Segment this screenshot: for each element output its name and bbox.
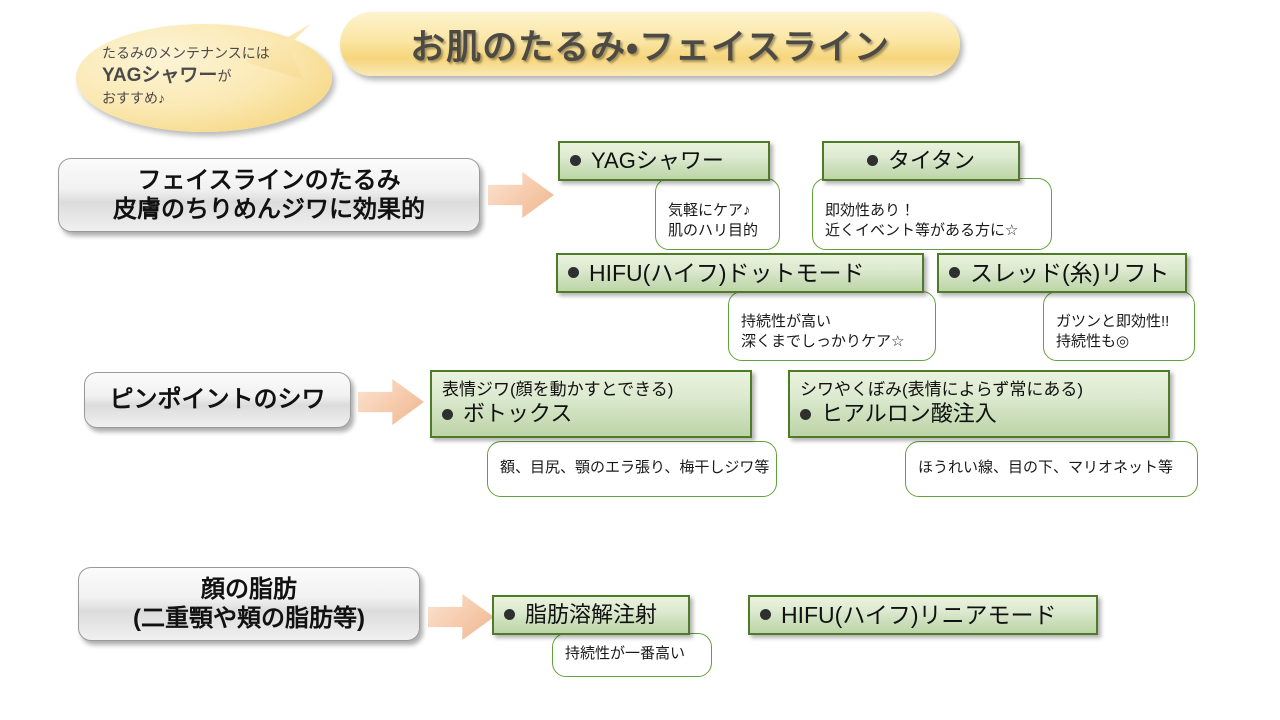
bubble-line-2-strong: YAGシャワー xyxy=(102,65,217,86)
treatment-name: スレッド(糸)リフト xyxy=(970,259,1169,287)
treatment-subtitle: 表情ジワ(顔を動かすとできる) xyxy=(442,380,740,400)
callout-botox: 額、目尻、顎のエラ張り、梅干しジワ等 xyxy=(487,441,777,497)
callout-line: ほうれい線、目の下、マリオネット等 xyxy=(918,458,1187,478)
treatment-name: ボトックス xyxy=(463,401,572,428)
callout-titan: 即効性あり！ 近くイベント等がある方に☆ xyxy=(812,178,1052,250)
treatment-name: 脂肪溶解注射 xyxy=(525,602,657,629)
arrow-icon-section-2 xyxy=(358,379,424,425)
treatment-box-thread-lift[interactable]: スレッド(糸)リフト xyxy=(937,253,1187,293)
callout-line: 額、目尻、顎のエラ張り、梅干しジワ等 xyxy=(500,458,766,478)
bullet-icon xyxy=(570,155,581,166)
bullet-icon xyxy=(949,267,960,278)
bullet-icon xyxy=(800,409,811,420)
callout-yag: 気軽にケア♪ 肌のハリ目的 xyxy=(655,178,780,250)
arrow-icon-section-1 xyxy=(488,172,554,218)
treatment-subtitle: シワやくぼみ(表情によらず常にある) xyxy=(800,380,1158,400)
callout-line: 肌のハリ目的 xyxy=(668,221,769,241)
bubble-line-1: たるみのメンテナンスには xyxy=(102,44,317,63)
speech-bubble-text: たるみのメンテナンスには YAGシャワーが おすすめ♪ xyxy=(102,44,317,108)
bubble-line-3: おすすめ♪ xyxy=(102,89,317,108)
callout-line: 持続性も◎ xyxy=(1056,332,1184,352)
callout-line: 深くまでしっかりケア☆ xyxy=(741,332,925,352)
bubble-line-2: YAGシャワーが xyxy=(102,63,317,89)
treatment-name: HIFU(ハイフ)ドットモード xyxy=(589,259,865,287)
category-label: ピンポイントのシワ xyxy=(110,385,326,414)
bullet-icon xyxy=(760,609,771,620)
treatment-title: HIFU(ハイフ)ドットモード xyxy=(568,259,912,287)
treatment-name: HIFU(ハイフ)リニアモード xyxy=(781,601,1057,629)
speech-bubble: たるみのメンテナンスには YAGシャワーが おすすめ♪ xyxy=(76,18,344,136)
arrow-icon-section-3 xyxy=(428,594,494,640)
callout-line: ガツンと即効性!! xyxy=(1056,312,1184,332)
bullet-icon xyxy=(442,409,453,420)
category-box-facial-fat: 顔の脂肪 (二重顎や頬の脂肪等) xyxy=(78,567,420,641)
treatment-name: タイタン xyxy=(888,148,975,175)
page-title-text: お肌のたるみ・フェイスライン xyxy=(410,19,890,70)
callout-hifu-dot: 持続性が高い 深くまでしっかりケア☆ xyxy=(728,291,936,361)
callout-line: 持続性が一番高い xyxy=(565,644,701,664)
callout-hyaluronic-acid: ほうれい線、目の下、マリオネット等 xyxy=(905,441,1198,497)
bullet-icon xyxy=(568,267,579,278)
treatment-title: タイタン xyxy=(834,148,1008,175)
treatment-title: スレッド(糸)リフト xyxy=(949,259,1175,287)
treatment-title: HIFU(ハイフ)リニアモード xyxy=(760,601,1086,629)
treatment-box-hifu-linear[interactable]: HIFU(ハイフ)リニアモード xyxy=(748,595,1098,635)
treatment-box-hyaluronic-acid[interactable]: シワやくぼみ(表情によらず常にある) ヒアルロン酸注入 xyxy=(788,370,1170,438)
treatment-box-fat-dissolving[interactable]: 脂肪溶解注射 xyxy=(492,595,690,635)
callout-line: 近くイベント等がある方に☆ xyxy=(825,221,1041,241)
treatment-title: ヒアルロン酸注入 xyxy=(800,401,1158,428)
treatment-box-hifu-dot[interactable]: HIFU(ハイフ)ドットモード xyxy=(556,253,924,293)
diagram-canvas: たるみのメンテナンスには YAGシャワーが おすすめ♪ お肌のたるみ・フェイスラ… xyxy=(0,0,1280,720)
page-title: お肌のたるみ・フェイスライン xyxy=(340,12,960,76)
category-box-sagging: フェイスラインのたるみ 皮膚のちりめんジワに効果的 xyxy=(58,158,480,232)
category-box-pinpoint-wrinkles: ピンポイントのシワ xyxy=(84,372,351,428)
callout-line: 即効性あり！ xyxy=(825,201,1041,221)
treatment-title: YAGシャワー xyxy=(570,148,758,175)
treatment-title: 脂肪溶解注射 xyxy=(504,602,678,629)
category-label: 顔の脂肪 (二重顎や頬の脂肪等) xyxy=(133,575,365,634)
callout-line: 気軽にケア♪ xyxy=(668,201,769,221)
treatment-name: ヒアルロン酸注入 xyxy=(821,401,997,428)
treatment-box-botox[interactable]: 表情ジワ(顔を動かすとできる) ボトックス xyxy=(430,370,752,438)
callout-line: 持続性が高い xyxy=(741,312,925,332)
category-label: フェイスラインのたるみ 皮膚のちりめんジワに効果的 xyxy=(113,166,425,225)
callout-thread-lift: ガツンと即効性!! 持続性も◎ xyxy=(1043,291,1195,361)
bubble-line-2-tail: が xyxy=(217,68,231,84)
bullet-icon xyxy=(867,155,878,166)
callout-fat-dissolving: 持続性が一番高い xyxy=(552,633,712,677)
bullet-icon xyxy=(504,609,515,620)
treatment-box-titan[interactable]: タイタン xyxy=(822,141,1020,181)
treatment-title: ボトックス xyxy=(442,401,740,428)
treatment-name: YAGシャワー xyxy=(591,148,724,175)
treatment-box-yag[interactable]: YAGシャワー xyxy=(558,141,770,181)
